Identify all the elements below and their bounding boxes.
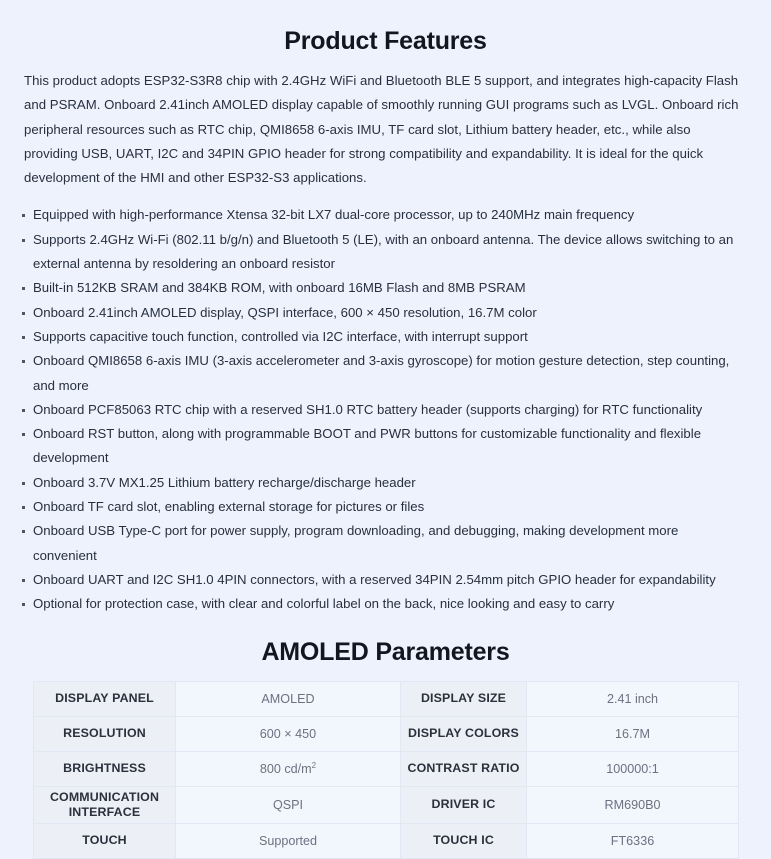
param-label-cell: CONTRAST RATIO bbox=[401, 751, 527, 786]
param-value-cell: 800 cd/m2 bbox=[176, 751, 401, 786]
feature-list-item: Onboard UART and I2C SH1.0 4PIN connecto… bbox=[22, 568, 745, 592]
feature-list-item: Onboard USB Type-C port for power supply… bbox=[22, 519, 745, 568]
amoled-parameters-table-wrap: DISPLAY PANELAMOLEDDISPLAY SIZE2.41 inch… bbox=[33, 681, 738, 859]
param-label-cell: DRIVER IC bbox=[401, 786, 527, 823]
param-label-cell: DISPLAY COLORS bbox=[401, 716, 527, 751]
table-row: BRIGHTNESS800 cd/m2CONTRAST RATIO100000:… bbox=[34, 751, 739, 786]
page-title-product-features: Product Features bbox=[0, 0, 771, 56]
param-value-cell: Supported bbox=[176, 823, 401, 858]
param-value-cell: FT6336 bbox=[527, 823, 739, 858]
param-label-cell: TOUCH bbox=[34, 823, 176, 858]
table-row: DISPLAY PANELAMOLEDDISPLAY SIZE2.41 inch bbox=[34, 681, 739, 716]
section-title-amoled-parameters: AMOLED Parameters bbox=[0, 617, 771, 681]
param-label-cell: RESOLUTION bbox=[34, 716, 176, 751]
feature-bullet-list: Equipped with high-performance Xtensa 32… bbox=[0, 203, 771, 616]
table-row: TOUCHSupportedTOUCH ICFT6336 bbox=[34, 823, 739, 858]
param-label-cell: COMMUNICATION INTERFACE bbox=[34, 786, 176, 823]
param-value-cell: 600 × 450 bbox=[176, 716, 401, 751]
amoled-parameters-table: DISPLAY PANELAMOLEDDISPLAY SIZE2.41 inch… bbox=[33, 681, 739, 859]
feature-list-item: Onboard TF card slot, enabling external … bbox=[22, 495, 745, 519]
param-value-cell: 100000:1 bbox=[527, 751, 739, 786]
product-intro-paragraph: This product adopts ESP32-S3R8 chip with… bbox=[24, 69, 747, 190]
param-value-cell: RM690B0 bbox=[527, 786, 739, 823]
feature-list-item: Optional for protection case, with clear… bbox=[22, 592, 745, 616]
table-row: COMMUNICATION INTERFACEQSPIDRIVER ICRM69… bbox=[34, 786, 739, 823]
param-label-cell: DISPLAY SIZE bbox=[401, 681, 527, 716]
page-root: Product Features This product adopts ESP… bbox=[0, 0, 771, 771]
feature-list-item: Onboard 2.41inch AMOLED display, QSPI in… bbox=[22, 301, 745, 325]
param-value-cell: AMOLED bbox=[176, 681, 401, 716]
feature-list-item: Equipped with high-performance Xtensa 32… bbox=[22, 203, 745, 227]
param-label-cell: DISPLAY PANEL bbox=[34, 681, 176, 716]
table-row: RESOLUTION600 × 450DISPLAY COLORS16.7M bbox=[34, 716, 739, 751]
param-value-cell: 2.41 inch bbox=[527, 681, 739, 716]
feature-list-item: Onboard QMI8658 6-axis IMU (3-axis accel… bbox=[22, 349, 745, 398]
feature-list-item: Supports 2.4GHz Wi-Fi (802.11 b/g/n) and… bbox=[22, 228, 745, 277]
feature-list-item: Onboard RST button, along with programma… bbox=[22, 422, 745, 471]
param-value-cell: QSPI bbox=[176, 786, 401, 823]
feature-list-item: Built-in 512KB SRAM and 384KB ROM, with … bbox=[22, 276, 745, 300]
feature-list-item: Onboard 3.7V MX1.25 Lithium battery rech… bbox=[22, 471, 745, 495]
param-value-cell: 16.7M bbox=[527, 716, 739, 751]
feature-list-item: Onboard PCF85063 RTC chip with a reserve… bbox=[22, 398, 745, 422]
param-label-cell: BRIGHTNESS bbox=[34, 751, 176, 786]
feature-list-item: Supports capacitive touch function, cont… bbox=[22, 325, 745, 349]
param-label-cell: TOUCH IC bbox=[401, 823, 527, 858]
